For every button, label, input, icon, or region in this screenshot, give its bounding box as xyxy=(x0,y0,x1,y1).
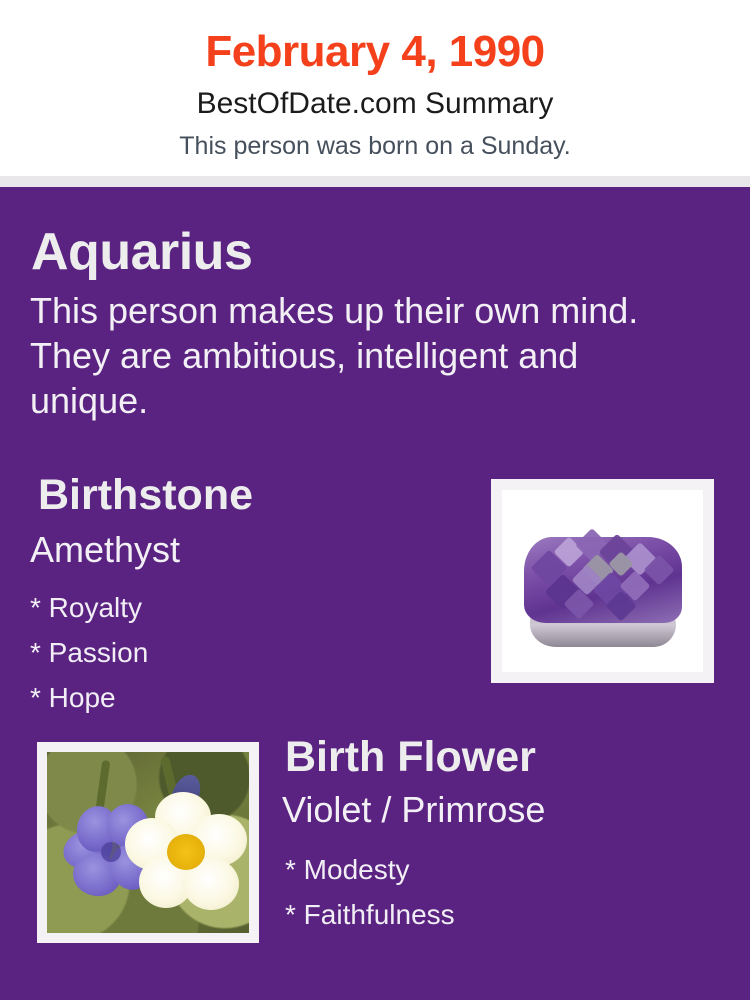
birthstone-heading: Birthstone xyxy=(38,470,253,520)
birth-flower-name: Violet / Primrose xyxy=(282,789,545,831)
summary-card: February 4, 1990 BestOfDate.com Summary … xyxy=(0,0,750,1000)
details-panel: Aquarius This person makes up their own … xyxy=(0,187,750,1000)
list-item: * Hope xyxy=(30,675,410,720)
page-title-date: February 4, 1990 xyxy=(0,26,750,78)
flower-illustration-icon xyxy=(47,752,249,933)
birth-flower-trait-list: * Modesty * Faithfulness xyxy=(285,847,685,937)
list-item: * Faithfulness xyxy=(285,892,685,937)
site-summary-label: BestOfDate.com Summary xyxy=(0,86,750,122)
born-day-note: This person was born on a Sunday. xyxy=(0,130,750,162)
birthstone-image-frame xyxy=(491,479,714,683)
birthstone-name: Amethyst xyxy=(30,529,180,571)
header: February 4, 1990 BestOfDate.com Summary … xyxy=(0,0,750,176)
list-item: * Royalty xyxy=(30,585,410,630)
list-item: * Passion xyxy=(30,630,410,675)
amethyst-crystal-icon xyxy=(524,525,682,647)
header-divider xyxy=(0,176,750,187)
amethyst-photo xyxy=(502,490,703,672)
birth-flower-heading: Birth Flower xyxy=(285,732,536,782)
zodiac-sign-title: Aquarius xyxy=(31,223,252,281)
birth-flower-image-frame xyxy=(37,742,259,943)
violet-primrose-photo xyxy=(47,752,249,933)
primrose-flower-icon xyxy=(125,792,247,914)
list-item: * Modesty xyxy=(285,847,685,892)
birthstone-trait-list: * Royalty * Passion * Hope xyxy=(30,585,410,720)
zodiac-description: This person makes up their own mind. The… xyxy=(30,288,680,423)
